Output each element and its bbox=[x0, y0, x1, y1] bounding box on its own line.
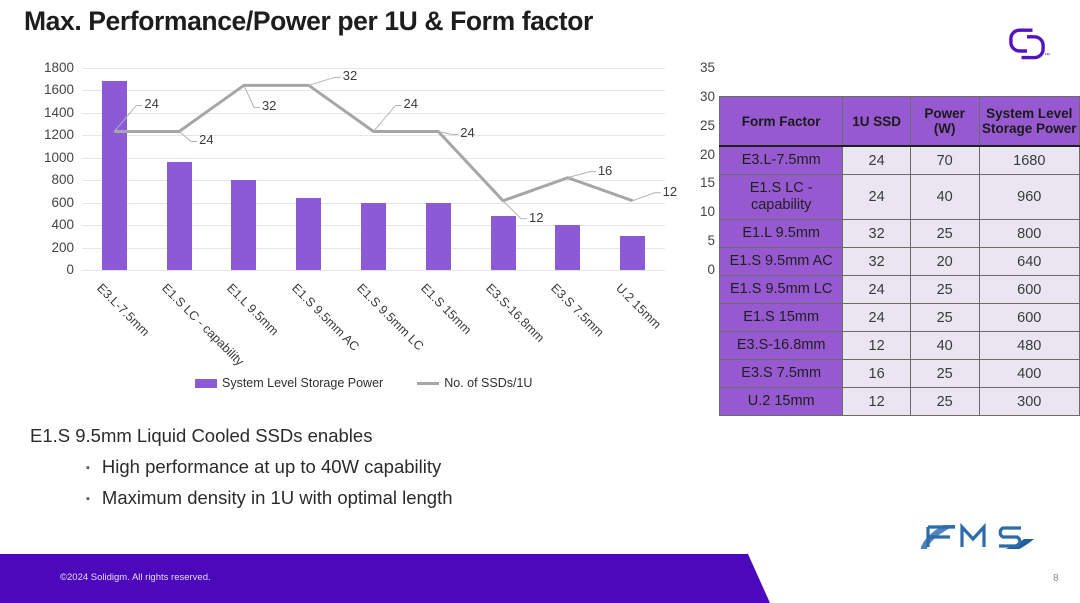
table-cell-power: 40 bbox=[910, 175, 979, 220]
table-cell-1u-ssd: 12 bbox=[843, 332, 911, 360]
table-cell-1u-ssd: 32 bbox=[843, 248, 911, 276]
table-header-1u-ssd: 1U SSD bbox=[843, 97, 911, 147]
legend-bar-swatch-icon bbox=[195, 379, 217, 388]
table-cell-power: 40 bbox=[910, 332, 979, 360]
table-header-line: Power bbox=[913, 106, 977, 121]
chart-x-tick-label: E3.S 7.5mm bbox=[548, 281, 607, 340]
table-cell-1u-ssd: 16 bbox=[843, 360, 911, 388]
table-cell-form-factor: U.2 15mm bbox=[720, 388, 843, 416]
table-cell-system-level: 800 bbox=[979, 220, 1079, 248]
table-cell-power: 20 bbox=[910, 248, 979, 276]
table-header-system-level-storage-power: System LevelStorage Power bbox=[979, 97, 1079, 147]
table-cell-power: 25 bbox=[910, 388, 979, 416]
table-cell-system-level: 600 bbox=[979, 304, 1079, 332]
table-cell-1u-ssd: 32 bbox=[843, 220, 911, 248]
table-header-line: (W) bbox=[913, 121, 977, 136]
table-cell-system-level: 400 bbox=[979, 360, 1079, 388]
table-cell-power: 25 bbox=[910, 360, 979, 388]
table-header-power: Power(W) bbox=[910, 97, 979, 147]
table-cell-1u-ssd: 24 bbox=[843, 175, 911, 220]
table-cell-system-level: 600 bbox=[979, 276, 1079, 304]
table-cell-system-level: 960 bbox=[979, 175, 1079, 220]
table-body: E3.L-7.5mm24701680E1.S LC - capability24… bbox=[720, 146, 1080, 416]
table-cell-power: 25 bbox=[910, 220, 979, 248]
chart-x-tick-label: E1.S 9.5mm LC bbox=[354, 281, 426, 353]
table-cell-power: 70 bbox=[910, 146, 979, 175]
table-cell-system-level: 480 bbox=[979, 332, 1079, 360]
solidigm-trademark: ™ bbox=[1044, 53, 1050, 59]
fms-logo-icon bbox=[908, 505, 1058, 567]
table-cell-power: 25 bbox=[910, 304, 979, 332]
chart-x-tick-label: E3.L-7.5mm bbox=[94, 281, 152, 339]
bullet-item-label: Maximum density in 1U with optimal lengt… bbox=[102, 484, 453, 512]
legend-item-line: No. of SSDs/1U bbox=[417, 376, 532, 390]
table-header-line: System Level bbox=[982, 106, 1077, 121]
table-cell-form-factor: E1.S 9.5mm AC bbox=[720, 248, 843, 276]
table-cell-1u-ssd: 24 bbox=[843, 276, 911, 304]
table-row: U.2 15mm1225300 bbox=[720, 388, 1080, 416]
table-cell-form-factor: E3.L-7.5mm bbox=[720, 146, 843, 175]
chart-x-tick-label: E1.S 15mm bbox=[418, 281, 474, 337]
table-header-line: Storage Power bbox=[982, 121, 1077, 136]
body-lead-line: E1.S 9.5mm Liquid Cooled SSDs enables bbox=[30, 422, 650, 450]
body-text-block: E1.S 9.5mm Liquid Cooled SSDs enables ▪ … bbox=[30, 422, 650, 512]
bullet-item: ▪ Maximum density in 1U with optimal len… bbox=[86, 484, 650, 512]
table-cell-form-factor: E1.L 9.5mm bbox=[720, 220, 843, 248]
table-row: E3.L-7.5mm24701680 bbox=[720, 146, 1080, 175]
table-cell-system-level: 1680 bbox=[979, 146, 1079, 175]
table-row: E3.S 7.5mm1625400 bbox=[720, 360, 1080, 388]
table-cell-1u-ssd: 24 bbox=[843, 304, 911, 332]
performance-chart: 020040060080010001200140016001800 051015… bbox=[0, 55, 700, 395]
table-row: E1.L 9.5mm3225800 bbox=[720, 220, 1080, 248]
table-header-row: Form Factor 1U SSD Power(W) System Level… bbox=[720, 97, 1080, 147]
table-row: E3.S-16.8mm1240480 bbox=[720, 332, 1080, 360]
page-title: Max. Performance/Power per 1U & Form fac… bbox=[24, 4, 784, 38]
table-cell-form-factor: E1.S 15mm bbox=[720, 304, 843, 332]
table-header-form-factor: Form Factor bbox=[720, 97, 843, 147]
table-row: E1.S 9.5mm AC3220640 bbox=[720, 248, 1080, 276]
legend-line-swatch-icon bbox=[417, 382, 439, 385]
chart-x-tick-label: U.2 15mm bbox=[613, 281, 664, 332]
footer-copyright: ©2024 Solidigm. All rights reserved. bbox=[60, 572, 211, 583]
chart-line-data-label: 12 bbox=[663, 184, 677, 199]
legend-item-bar: System Level Storage Power bbox=[195, 376, 383, 390]
table-cell-system-level: 300 bbox=[979, 388, 1079, 416]
table-row: E1.S 15mm2425600 bbox=[720, 304, 1080, 332]
table-row: E1.S 9.5mm LC2425600 bbox=[720, 276, 1080, 304]
form-factor-spec-table: Form Factor 1U SSD Power(W) System Level… bbox=[719, 96, 1080, 416]
chart-x-axis-labels: E3.L-7.5mmE1.S LC - capabilityE1.L 9.5mm… bbox=[82, 273, 665, 383]
chart-x-tick-label: E1.S 9.5mm AC bbox=[289, 281, 362, 354]
bullet-item: ▪ High performance at up to 40W capabili… bbox=[86, 453, 650, 481]
table-cell-form-factor: E3.S-16.8mm bbox=[720, 332, 843, 360]
table-header-line: 1U SSD bbox=[845, 114, 908, 129]
legend-item-label: System Level Storage Power bbox=[222, 376, 383, 390]
table-cell-1u-ssd: 24 bbox=[843, 146, 911, 175]
legend-item-label: No. of SSDs/1U bbox=[444, 376, 532, 390]
chart-legend: System Level Storage Power No. of SSDs/1… bbox=[195, 376, 532, 390]
bullet-item-label: High performance at up to 40W capability bbox=[102, 453, 441, 481]
table-cell-system-level: 640 bbox=[979, 248, 1079, 276]
chart-x-tick-label: E1.L 9.5mm bbox=[224, 281, 281, 338]
table-cell-form-factor: E1.S 9.5mm LC bbox=[720, 276, 843, 304]
chart-x-tick-label: E3.S-16.8mm bbox=[483, 281, 547, 345]
bullet-marker-icon: ▪ bbox=[86, 463, 90, 474]
table-cell-form-factor: E1.S LC - capability bbox=[720, 175, 843, 220]
bullet-marker-icon: ▪ bbox=[86, 494, 90, 505]
table-header-line: Form Factor bbox=[722, 114, 840, 129]
page-number: 8 bbox=[1053, 573, 1059, 584]
table-cell-1u-ssd: 12 bbox=[843, 388, 911, 416]
table-cell-form-factor: E3.S 7.5mm bbox=[720, 360, 843, 388]
table-cell-power: 25 bbox=[910, 276, 979, 304]
table-row: E1.S LC - capability2440960 bbox=[720, 175, 1080, 220]
